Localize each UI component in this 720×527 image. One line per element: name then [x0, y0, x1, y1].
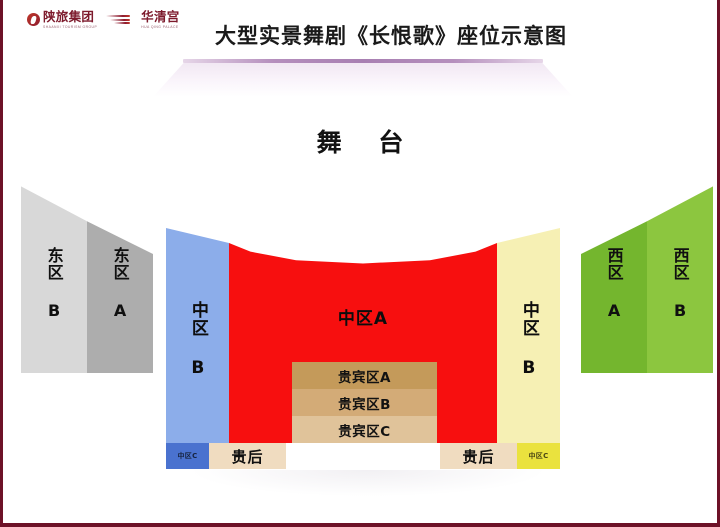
header: 陕旅集团 SHAANXI TOURISM GROUP 华清宫 HUA QING …: [3, 0, 717, 62]
seating-chart-page: 陕旅集团 SHAANXI TOURISM GROUP 华清宫 HUA QING …: [0, 0, 720, 527]
zone-vip-rear-left[interactable]: 贵后: [209, 443, 286, 469]
stage-front-edge: [183, 59, 543, 63]
east-seating-wing: 东区 B 东区 A: [21, 170, 153, 375]
zone-center-c-right[interactable]: 中区C: [517, 443, 560, 469]
stage-platform-surface: [153, 62, 573, 97]
zone-west-a-label: 西区 A: [605, 247, 622, 321]
rear-seating-row: 中区C 贵后 贵后 中区C: [166, 443, 560, 469]
zone-east-b-label: 东区 B: [45, 247, 62, 321]
zone-vip-c[interactable]: 贵宾区C: [292, 416, 437, 443]
zone-vip-rear-right[interactable]: 贵后: [440, 443, 517, 469]
zone-vip-b[interactable]: 贵宾区B: [292, 389, 437, 416]
zone-east-a-label: 东区 A: [111, 247, 128, 321]
zone-east-b[interactable]: 东区 B: [21, 170, 87, 375]
zone-center-c-left[interactable]: 中区C: [166, 443, 209, 469]
zone-west-a[interactable]: 西区 A: [581, 170, 647, 375]
zone-center-b-right[interactable]: 中区 B: [497, 228, 560, 443]
zone-center-a-label: 中区A: [229, 304, 497, 329]
vip-zone-group: 贵宾区A 贵宾区B 贵宾区C: [292, 362, 437, 443]
zone-center-b-right-label: 中区 B: [519, 301, 538, 379]
floor-reflection: [193, 470, 543, 496]
zone-vip-a[interactable]: 贵宾区A: [292, 362, 437, 389]
stage-platform: [153, 59, 573, 97]
west-seating-wing: 西区 A 西区 B: [581, 170, 713, 375]
stage-label: 舞 台: [3, 123, 717, 159]
zone-east-a[interactable]: 东区 A: [87, 170, 153, 375]
page-title: 大型实景舞剧《长恨歌》座位示意图: [3, 20, 717, 50]
zone-center-b-left[interactable]: 中区 B: [166, 228, 229, 443]
zone-west-b[interactable]: 西区 B: [647, 170, 713, 375]
zone-west-b-label: 西区 B: [671, 247, 688, 321]
zone-center-b-left-label: 中区 B: [188, 301, 207, 379]
